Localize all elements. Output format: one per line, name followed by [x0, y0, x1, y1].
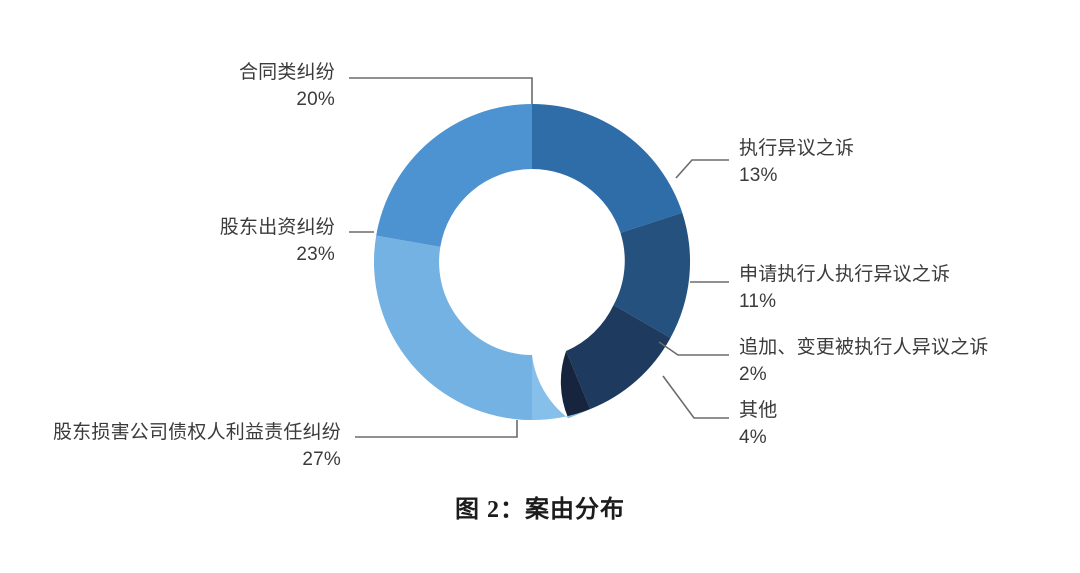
figure-container: 合同类纠纷 20% 股东出资纠纷 23% 股东损害公司债权人利益责任纠纷 27%…	[0, 0, 1080, 573]
label-contract-dispute-percent: 20%	[239, 87, 335, 114]
donut-slices	[374, 104, 690, 420]
label-add-change-objection: 追加、变更被执行人异议之诉 2%	[739, 335, 989, 389]
label-contract-dispute-text: 合同类纠纷	[239, 60, 335, 87]
label-execution-objection-percent: 13%	[739, 163, 854, 190]
label-shareholder-harm-creditor: 股东损害公司债权人利益责任纠纷 27%	[53, 420, 341, 474]
label-shareholder-harm-creditor-percent: 27%	[53, 447, 341, 474]
label-shareholder-contribution: 股东出资纠纷 23%	[220, 215, 335, 269]
slice-contract-dispute[interactable]	[532, 104, 682, 233]
label-shareholder-contribution-text: 股东出资纠纷	[220, 215, 335, 242]
label-applicant-objection-percent: 11%	[739, 289, 950, 316]
label-shareholder-contribution-percent: 23%	[220, 242, 335, 269]
label-applicant-objection: 申请执行人执行异议之诉 11%	[739, 262, 950, 316]
label-other: 其他 4%	[739, 398, 777, 452]
slice-shareholder-harm-creditor[interactable]	[374, 236, 532, 420]
label-shareholder-harm-creditor-text: 股东损害公司债权人利益责任纠纷	[53, 420, 341, 447]
figure-caption: 图 2：案由分布	[0, 489, 1080, 524]
leader-line-contract-dispute	[349, 78, 532, 104]
label-execution-objection: 执行异议之诉 13%	[739, 136, 854, 190]
leader-line-shareholder-harm-creditor	[355, 420, 517, 437]
slice-shareholder-contribution[interactable]	[376, 104, 532, 247]
label-other-text: 其他	[739, 398, 777, 425]
label-contract-dispute: 合同类纠纷 20%	[239, 60, 335, 114]
label-other-percent: 4%	[739, 425, 777, 452]
leader-line-other	[663, 376, 729, 418]
label-applicant-objection-text: 申请执行人执行异议之诉	[739, 262, 950, 289]
leader-line-execution-objection	[676, 160, 729, 178]
label-add-change-objection-percent: 2%	[739, 362, 989, 389]
label-add-change-objection-text: 追加、变更被执行人异议之诉	[739, 335, 989, 362]
leader-line-add-change-objection	[659, 342, 729, 355]
label-execution-objection-text: 执行异议之诉	[739, 136, 854, 163]
